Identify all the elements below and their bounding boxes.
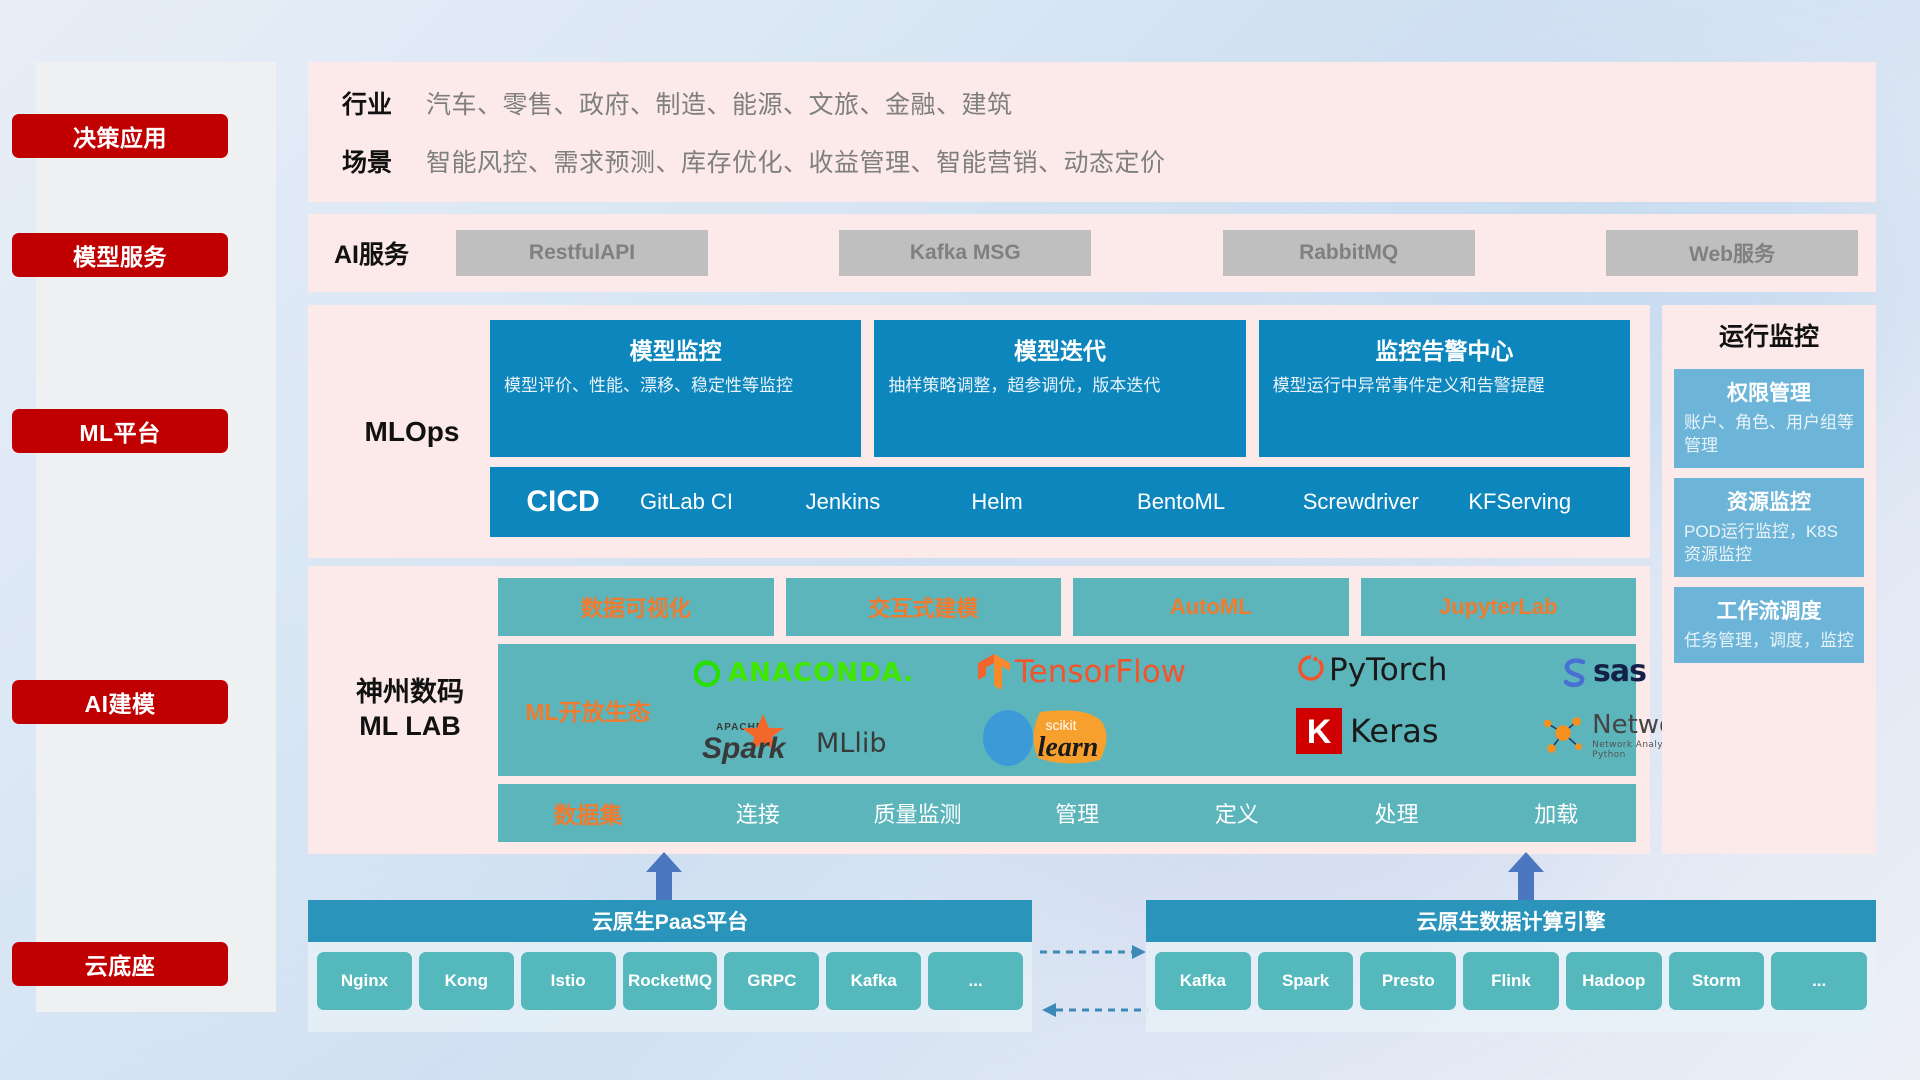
spark-mllib-logo: APACHE Spark MLlib [690,710,886,766]
pytorch-label: PyTorch [1329,652,1447,688]
rail-item-label: 模型服务 [73,238,167,272]
dataset-item-manage[interactable]: 管理 [997,797,1157,829]
mlops-card-model-monitoring[interactable]: 模型监控 模型评价、性能、漂移、稳定性等监控 [490,320,861,457]
lab-tile-data-visualization[interactable]: 数据可视化 [498,578,774,636]
dataset-bar: 数据集 连接 质量监测 管理 定义 处理 加载 [498,784,1636,842]
anaconda-label: ANACONDA. [728,658,914,688]
scenario-label: 场景 [308,143,426,179]
tensorflow-logo: TensorFlow [976,652,1186,692]
dataset-item-load[interactable]: 加载 [1476,797,1636,829]
cicd-item-list: GitLab CI Jenkins Helm BentoML Screwdriv… [636,490,1630,513]
card-desc: 任务管理，调度，监控 [1684,630,1854,653]
ml-open-ecosystem: ML开放生态 ANACONDA. [498,644,1636,776]
arrow-up-data-engine [1506,852,1546,904]
runtime-monitoring-title: 运行监控 [1662,305,1876,359]
decision-application-panel: 行业 汽车、零售、政府、制造、能源、文旅、金融、建筑 场景 智能风控、需求预测、… [308,62,1876,202]
industry-label: 行业 [308,85,426,121]
mllib-label: MLlib [816,728,886,759]
cloud-data-engine-panel: 云原生数据计算引擎 Kafka Spark Presto Flink Hadoo… [1146,900,1876,1032]
anaconda-logo: ANACONDA. [690,656,914,690]
card-desc: 账户、角色、用户组等管理 [1684,412,1854,458]
cicd-bar: CICD GitLab CI Jenkins Helm BentoML Scre… [490,467,1630,537]
rail-item-decision-app[interactable]: 决策应用 [12,114,228,158]
svg-text:Spark: Spark [702,732,787,765]
cloud-paas-chip-list: Nginx Kong Istio RocketMQ GRPC Kafka ... [308,942,1032,1020]
ml-open-ecosystem-label: ML开放生态 [498,693,678,727]
cloud-chip-flink[interactable]: Flink [1463,952,1559,1010]
ml-lab-label-line2: ML LAB [359,710,461,744]
mlops-panel: MLOps 模型监控 模型评价、性能、漂移、稳定性等监控 模型迭代 抽样策略调整… [308,305,1650,558]
rail-item-ml-platform[interactable]: ML平台 [12,409,228,453]
monitoring-card-permission[interactable]: 权限管理 账户、角色、用户组等管理 [1674,369,1864,468]
rail-item-label: AI建模 [85,685,156,719]
sas-icon [1558,655,1592,689]
cloud-chip-presto[interactable]: Presto [1360,952,1456,1010]
cicd-item-helm[interactable]: Helm [967,490,1133,513]
dataset-title: 数据集 [498,796,678,830]
industry-row: 行业 汽车、零售、政府、制造、能源、文旅、金融、建筑 [308,74,1876,132]
cloud-chip-nginx[interactable]: Nginx [317,952,412,1010]
ml-lab-label: 神州数码 ML LAB [322,566,498,854]
card-desc: 抽样策略调整，超参调优，版本迭代 [888,375,1231,398]
networkx-icon [1538,711,1588,759]
rail-item-label: 云底座 [85,947,156,981]
cloud-chip-hadoop[interactable]: Hadoop [1566,952,1662,1010]
svg-text:K: K [1307,713,1332,751]
rail-item-label: 决策应用 [73,119,167,153]
pytorch-icon [1296,652,1326,688]
cloud-chip-kafka[interactable]: Kafka [826,952,921,1010]
cicd-item-jenkins[interactable]: Jenkins [802,490,968,513]
mlops-label: MLOps [332,305,492,558]
cicd-item-bentoml[interactable]: BentoML [1133,490,1299,513]
ml-lab-panel: 神州数码 ML LAB 数据可视化 交互式建模 AutoML JupyterLa… [308,566,1650,854]
card-title: 资源监控 [1684,486,1854,516]
ai-service-chip-kafka-msg[interactable]: Kafka MSG [839,230,1091,276]
dataset-item-define[interactable]: 定义 [1157,797,1317,829]
card-desc: POD运行监控，K8S资源监控 [1684,521,1854,567]
rail-item-ai-modeling[interactable]: AI建模 [12,680,228,724]
industry-value: 汽车、零售、政府、制造、能源、文旅、金融、建筑 [426,85,1013,121]
monitoring-card-resource[interactable]: 资源监控 POD运行监控，K8S资源监控 [1674,478,1864,577]
scikit-learn-logo: scikit learn [978,708,1146,766]
lab-tile-interactive-modeling[interactable]: 交互式建模 [786,578,1062,636]
card-title: 工作流调度 [1684,595,1854,625]
keras-logo: K Keras [1296,708,1439,754]
spark-icon: APACHE Spark [690,710,822,766]
keras-label: Keras [1350,712,1439,750]
cloud-paas-title: 云原生PaaS平台 [308,900,1032,942]
cloud-data-engine-title: 云原生数据计算引擎 [1146,900,1876,942]
arrow-right-dashed [1040,942,1148,962]
layer-rail [36,62,276,1012]
ai-service-chip-web-service[interactable]: Web服务 [1606,230,1858,276]
card-title: 模型监控 [504,332,847,366]
cloud-chip-spark[interactable]: Spark [1258,952,1354,1010]
cloud-chip-rocketmq[interactable]: RocketMQ [623,952,718,1010]
rail-item-label: ML平台 [79,414,160,448]
dataset-item-quality[interactable]: 质量监测 [838,797,998,829]
cloud-chip-more[interactable]: ... [928,952,1023,1010]
card-title: 模型迭代 [888,332,1231,366]
cicd-item-kfserving[interactable]: KFServing [1464,490,1630,513]
cloud-paas-panel: 云原生PaaS平台 Nginx Kong Istio RocketMQ GRPC… [308,900,1032,1032]
cloud-data-engine-chip-list: Kafka Spark Presto Flink Hadoop Storm ..… [1146,942,1876,1020]
cicd-item-gitlab-ci[interactable]: GitLab CI [636,490,802,513]
mlops-card-list: 模型监控 模型评价、性能、漂移、稳定性等监控 模型迭代 抽样策略调整，超参调优，… [490,320,1630,457]
ai-service-chip-list: RestfulAPI Kafka MSG RabbitMQ Web服务 [456,230,1876,276]
anaconda-icon [690,656,724,690]
ml-lab-label-line1: 神州数码 [356,676,464,710]
sas-label: sas [1593,654,1646,689]
svg-text:scikit: scikit [1045,717,1076,733]
arrow-up-paas [644,852,684,904]
tensorflow-icon [976,652,1012,692]
scenario-row: 场景 智能风控、需求预测、库存优化、收益管理、智能营销、动态定价 [308,132,1876,190]
cloud-chip-grpc[interactable]: GRPC [724,952,819,1010]
cloud-chip-kafka[interactable]: Kafka [1155,952,1251,1010]
card-desc: 模型运行中异常事件定义和告警提醒 [1273,375,1616,398]
sas-logo: sas [1558,654,1646,689]
arrow-left-dashed [1040,1000,1148,1020]
cloud-chip-storm[interactable]: Storm [1669,952,1765,1010]
dataset-item-connect[interactable]: 连接 [678,797,838,829]
runtime-monitoring-panel: 运行监控 权限管理 账户、角色、用户组等管理 资源监控 POD运行监控，K8S资… [1662,305,1876,854]
pytorch-logo: PyTorch [1296,652,1447,688]
ecosystem-logo-grid: ANACONDA. TensorFlow [678,644,1636,776]
svg-text:learn: learn [1038,732,1099,763]
cloud-chip-more[interactable]: ... [1771,952,1867,1010]
keras-icon: K [1296,708,1342,754]
scikit-learn-icon: scikit learn [978,708,1146,766]
ai-service-panel: AI服务 RestfulAPI Kafka MSG RabbitMQ Web服务 [308,214,1876,292]
card-title: 权限管理 [1684,377,1854,407]
lab-tile-jupyterlab[interactable]: JupyterLab [1361,578,1637,636]
dataset-item-process[interactable]: 处理 [1317,797,1477,829]
lab-tile-automl[interactable]: AutoML [1073,578,1349,636]
mlops-card-alert-center[interactable]: 监控告警中心 模型运行中异常事件定义和告警提醒 [1259,320,1630,457]
rail-item-cloud-base[interactable]: 云底座 [12,942,228,986]
scenario-value: 智能风控、需求预测、库存优化、收益管理、智能营销、动态定价 [426,143,1166,179]
mlops-card-model-iteration[interactable]: 模型迭代 抽样策略调整，超参调优，版本迭代 [874,320,1245,457]
cloud-chip-istio[interactable]: Istio [521,952,616,1010]
ml-lab-tile-list: 数据可视化 交互式建模 AutoML JupyterLab [498,578,1636,636]
cicd-item-screwdriver[interactable]: Screwdriver [1299,490,1465,513]
architecture-diagram: 决策应用 模型服务 ML平台 AI建模 云底座 行业 汽车、零售、政府、制造、能… [0,0,1920,1080]
rail-item-model-service[interactable]: 模型服务 [12,233,228,277]
monitoring-card-workflow[interactable]: 工作流调度 任务管理，调度，监控 [1674,587,1864,663]
ai-service-chip-restfulapi[interactable]: RestfulAPI [456,230,708,276]
tensorflow-label: TensorFlow [1015,654,1186,690]
cloud-chip-kong[interactable]: Kong [419,952,514,1010]
card-title: 监控告警中心 [1273,332,1616,366]
ai-service-label: AI服务 [308,235,456,271]
cicd-title: CICD [490,485,636,519]
ai-service-chip-rabbitmq[interactable]: RabbitMQ [1223,230,1475,276]
card-desc: 模型评价、性能、漂移、稳定性等监控 [504,375,847,398]
